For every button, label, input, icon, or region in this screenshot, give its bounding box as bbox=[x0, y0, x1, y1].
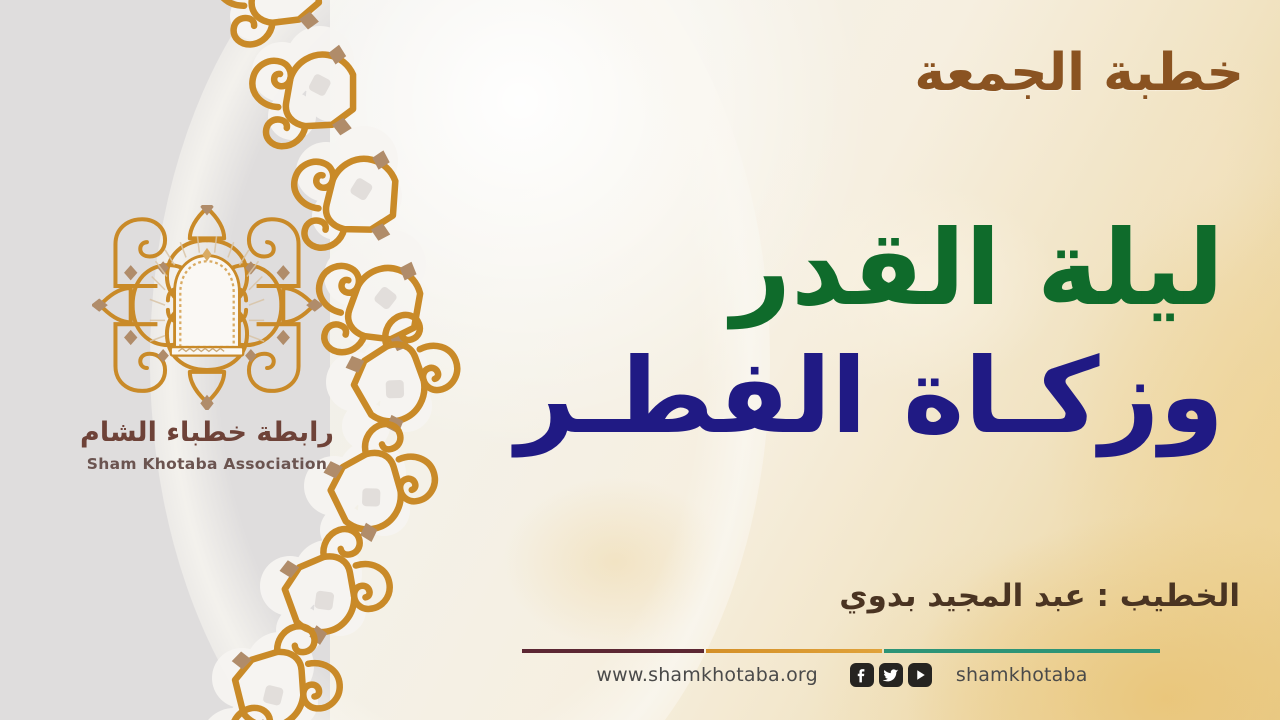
title-line-2: وزكـاة الفطـر bbox=[516, 343, 1224, 449]
title-line-1: ليلة القدر bbox=[516, 215, 1224, 321]
poster-canvas: رابطة خطباء الشام Sham Khotaba Associati… bbox=[0, 0, 1280, 720]
youtube-icon[interactable] bbox=[908, 663, 932, 687]
website-url[interactable]: www.shamkhotaba.org bbox=[596, 664, 817, 686]
association-logo: رابطة خطباء الشام Sham Khotaba Associati… bbox=[62, 205, 352, 473]
title-block: ليلة القدر وزكـاة الفطـر bbox=[516, 215, 1224, 449]
speaker-label: الخطيب : عبد المجيد بدوي bbox=[839, 578, 1240, 614]
kicker-label: خطبة الجمعة bbox=[914, 46, 1244, 101]
logo-name-ar: رابطة خطباء الشام bbox=[62, 418, 352, 448]
social-handle[interactable]: shamkhotaba bbox=[956, 664, 1088, 686]
mihrab-rosette-icon bbox=[92, 205, 322, 410]
footer-rule-teal bbox=[884, 649, 1160, 653]
footer-rule-maroon bbox=[522, 649, 704, 653]
footer-bar: www.shamkhotaba.org shamkhotaba bbox=[522, 658, 1162, 692]
footer-rule-orange bbox=[706, 649, 882, 653]
logo-name-en: Sham Khotaba Association bbox=[62, 455, 352, 473]
social-links bbox=[850, 663, 932, 687]
twitter-icon[interactable] bbox=[879, 663, 903, 687]
facebook-icon[interactable] bbox=[850, 663, 874, 687]
